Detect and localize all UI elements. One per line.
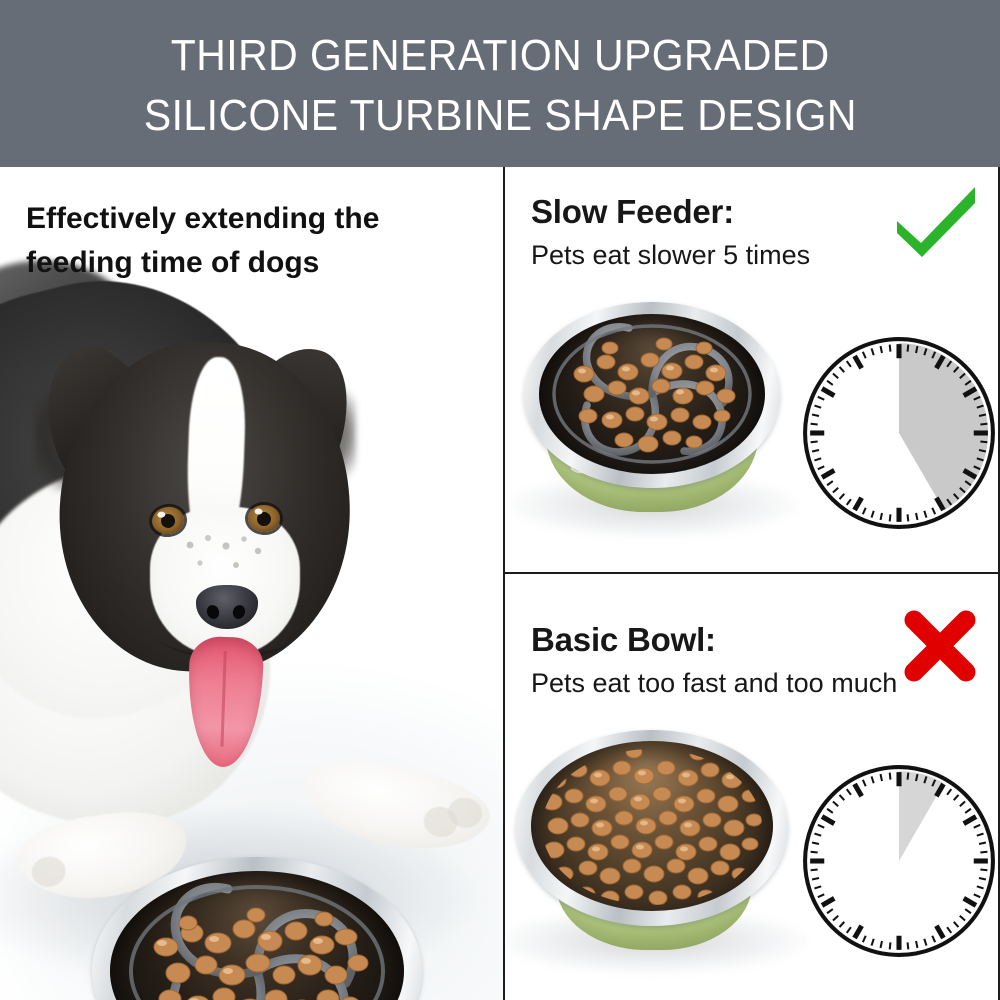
basic-bowl-text-block: Basic Bowl: Pets eat too fast and too mu…: [531, 620, 951, 702]
kibble-pile: [554, 326, 752, 462]
header-title-line-1: THIRD GENERATION UPGRADED: [171, 26, 830, 86]
dog-toe: [30, 854, 68, 888]
dog-tongue-crease: [220, 651, 226, 747]
panel-basic-bowl: Basic Bowl: Pets eat too fast and too mu…: [506, 575, 1000, 1000]
basic-bowl: [516, 730, 788, 968]
kibble-pile-full: [538, 746, 766, 908]
slow-feeder-clock: [798, 332, 1000, 534]
dog-muzzle-spots-icon: [178, 529, 270, 587]
clock-face: [798, 760, 1000, 962]
cross-mark-icon: [901, 607, 979, 685]
left-panel-caption: Effectively extending the feeding time o…: [26, 197, 486, 285]
panel-divider-horizontal: [503, 572, 1000, 574]
check-mark-icon: [891, 181, 981, 257]
basic-bowl-subtitle: Pets eat too fast and too much: [531, 664, 951, 702]
panel-slow-feeder: Slow Feeder: Pets eat slower 5 times: [506, 167, 1000, 571]
basic-bowl-title: Basic Bowl:: [531, 620, 951, 660]
basic-bowl-clock: [798, 760, 1000, 962]
header-banner: THIRD GENERATION UPGRADED SILICONE TURBI…: [0, 0, 1000, 167]
panel-left-dog-photo: Effectively extending the feeding time o…: [0, 167, 503, 1000]
slow-feeder-text-block: Slow Feeder: Pets eat slower 5 times: [531, 192, 891, 274]
infographic-page: THIRD GENERATION UPGRADED SILICONE TURBI…: [0, 0, 1000, 1000]
clock-face: [798, 332, 1000, 534]
slow-feeder-title: Slow Feeder:: [531, 192, 891, 232]
header-title-line-2: SILICONE TURBINE SHAPE DESIGN: [143, 86, 856, 146]
slow-feeder-bowl-large: [92, 857, 422, 1000]
slow-feeder-bowl: [524, 302, 780, 534]
slow-feeder-subtitle: Pets eat slower 5 times: [531, 236, 891, 274]
panel-divider-vertical: [503, 167, 505, 1000]
